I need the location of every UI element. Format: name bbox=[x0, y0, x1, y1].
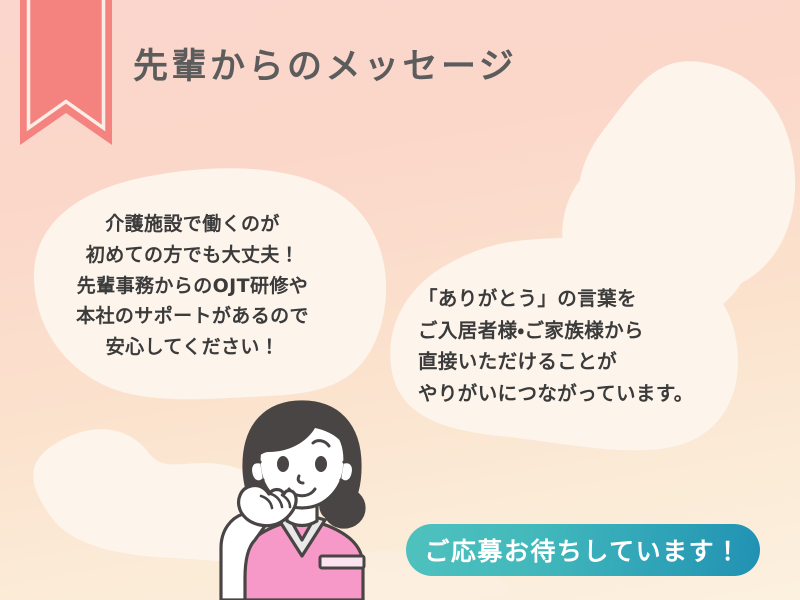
message-left-line-3: 先輩事務からのOJT研修や bbox=[60, 271, 325, 302]
page-title: 先輩からのメッセージ bbox=[133, 38, 517, 89]
message-right-line-1: 「ありがとう」の言葉を bbox=[418, 283, 694, 315]
eye-left bbox=[277, 456, 289, 472]
message-left-line-4: 本社のサポートがあるので bbox=[60, 301, 325, 332]
name-badge bbox=[320, 556, 364, 568]
message-right: 「ありがとう」の言葉を ご入居者様・ご家族様から 直接いただけることが やりがい… bbox=[418, 283, 694, 409]
apply-cta-button[interactable]: ご応募お待ちしています！ bbox=[406, 524, 760, 576]
message-left-line-2: 初めての方でも大丈夫！ bbox=[60, 240, 325, 271]
message-right-line-3: 直接いただけることが bbox=[418, 346, 694, 378]
caregiver-woman-illustration bbox=[183, 388, 398, 600]
message-right-line-4: やりがいにつながっています。 bbox=[418, 378, 694, 410]
message-poster: 先輩からのメッセージ 介護施設で働くのが 初めての方でも大丈夫！ 先輩事務からの… bbox=[0, 0, 800, 600]
message-right-line-2: ご入居者様・ご家族様から bbox=[418, 315, 694, 347]
message-left-line-5: 安心してください！ bbox=[60, 332, 325, 363]
blob-top-right bbox=[579, 61, 795, 294]
message-left: 介護施設で働くのが 初めての方でも大丈夫！ 先輩事務からのOJT研修や 本社のサ… bbox=[60, 209, 325, 363]
ribbon-banner-icon bbox=[0, 0, 140, 170]
eye-right bbox=[315, 456, 327, 472]
message-left-line-1: 介護施設で働くのが bbox=[60, 209, 325, 240]
